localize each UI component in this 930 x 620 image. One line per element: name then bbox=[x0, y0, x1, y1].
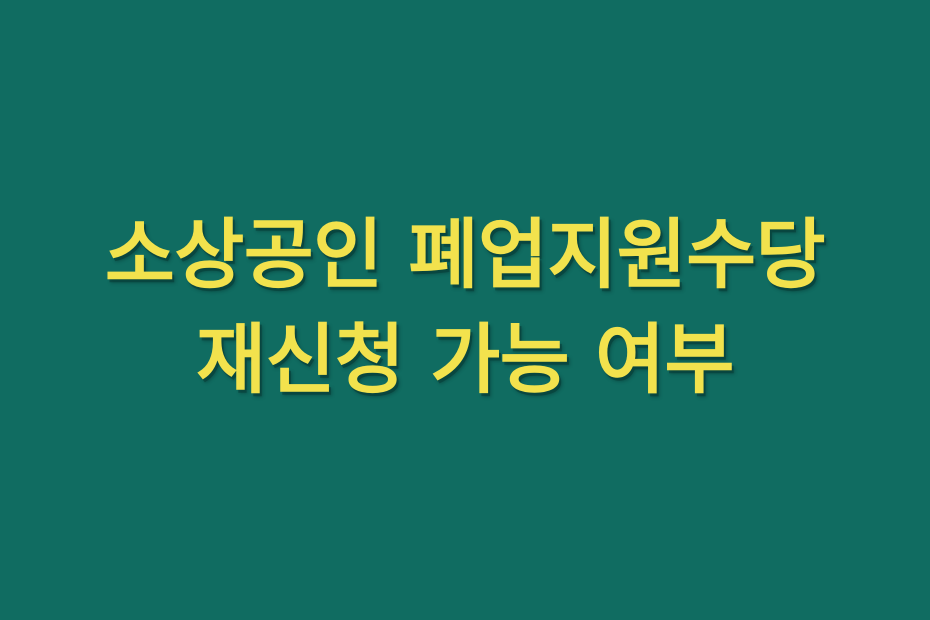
headline-line-1: 소상공인 폐업지원수당 bbox=[0, 202, 930, 307]
headline-line-2: 재신청 가능 여부 bbox=[0, 307, 930, 412]
banner-canvas: 소상공인 폐업지원수당 재신청 가능 여부 bbox=[0, 0, 930, 620]
headline-block: 소상공인 폐업지원수당 재신청 가능 여부 bbox=[0, 202, 930, 418]
